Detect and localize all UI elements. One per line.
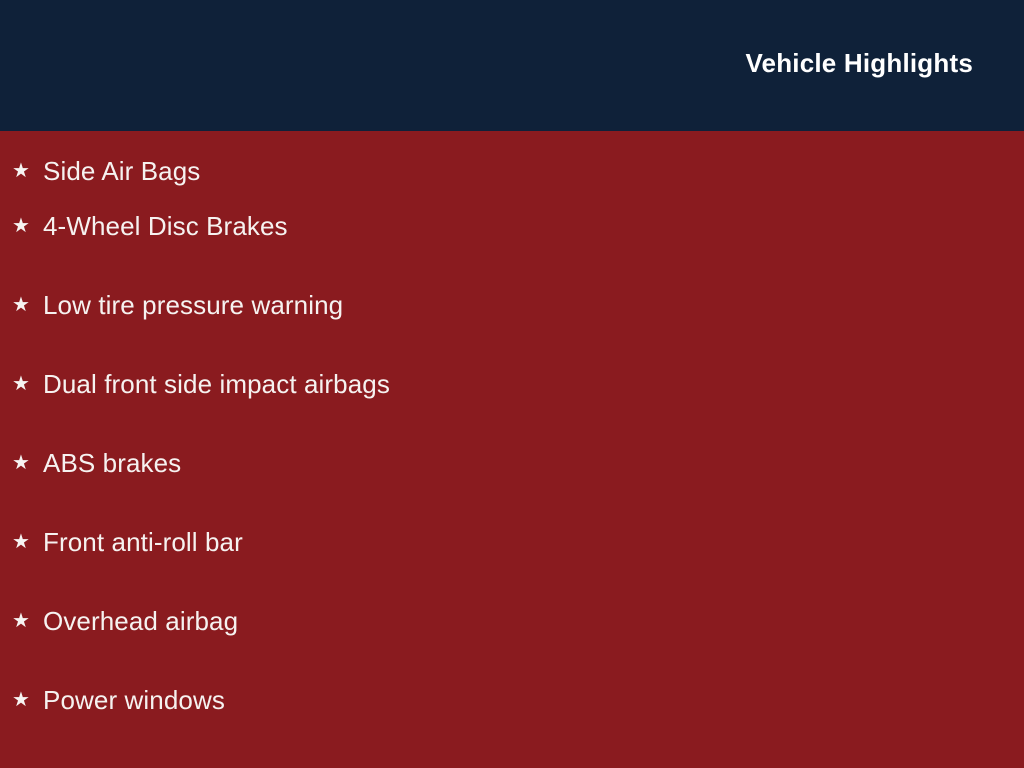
list-item-label: ABS brakes bbox=[43, 447, 181, 479]
list-item: ★Front anti-roll bar bbox=[0, 526, 1024, 605]
list-item: ★ABS brakes bbox=[0, 447, 1024, 526]
list-item: ★Side Air Bags bbox=[0, 131, 1024, 210]
list-item: ★Overhead airbag bbox=[0, 605, 1024, 684]
star-bullet-icon: ★ bbox=[12, 210, 43, 242]
vehicle-highlights-slide: Vehicle Highlights ★Side Air Bags★4-Whee… bbox=[0, 0, 1024, 768]
star-bullet-icon: ★ bbox=[12, 684, 43, 716]
page-title: Vehicle Highlights bbox=[745, 47, 973, 79]
list-item: ★Dual front side impact airbags bbox=[0, 368, 1024, 447]
star-bullet-icon: ★ bbox=[12, 368, 43, 400]
list-item: ★4-Wheel Disc Brakes bbox=[0, 210, 1024, 289]
slide-header-band: Vehicle Highlights bbox=[0, 0, 1024, 131]
list-item-label: Front anti-roll bar bbox=[43, 526, 243, 558]
star-bullet-icon: ★ bbox=[12, 289, 43, 321]
list-item-label: Side Air Bags bbox=[43, 155, 200, 187]
list-item-label: Dual front side impact airbags bbox=[43, 368, 390, 400]
star-bullet-icon: ★ bbox=[12, 526, 43, 558]
list-item: ★Low tire pressure warning bbox=[0, 289, 1024, 368]
star-bullet-icon: ★ bbox=[12, 155, 43, 187]
list-item-label: Low tire pressure warning bbox=[43, 289, 343, 321]
list-item-label: 4-Wheel Disc Brakes bbox=[43, 210, 288, 242]
list-item-label: Power windows bbox=[43, 684, 225, 716]
star-bullet-icon: ★ bbox=[12, 605, 43, 637]
star-bullet-icon: ★ bbox=[12, 447, 43, 479]
list-item-label: Overhead airbag bbox=[43, 605, 238, 637]
list-item: ★Power windows bbox=[0, 684, 1024, 763]
vehicle-highlights-list: ★Side Air Bags★4-Wheel Disc Brakes★Low t… bbox=[0, 131, 1024, 768]
